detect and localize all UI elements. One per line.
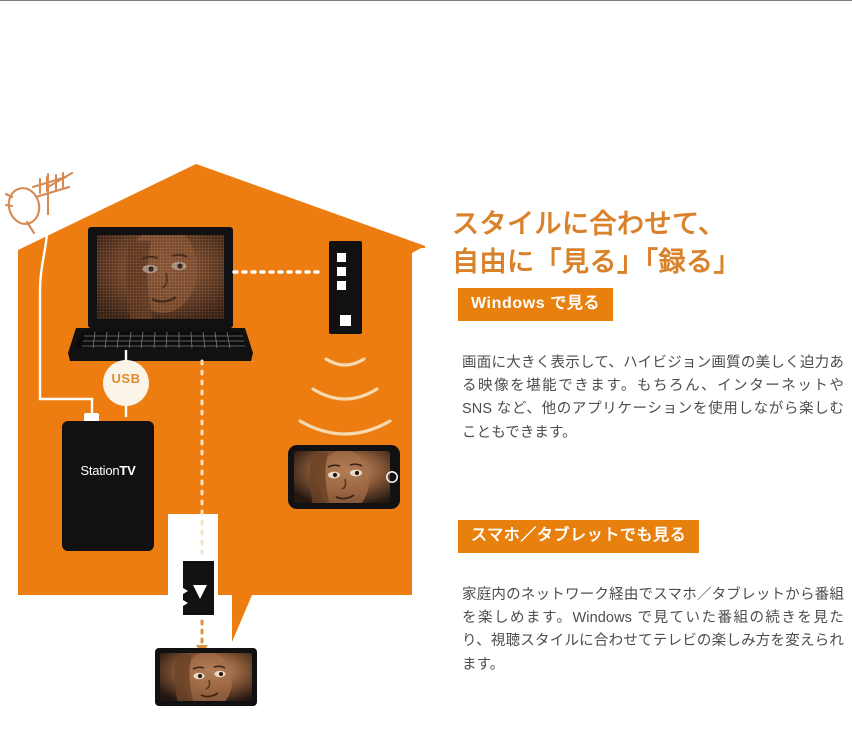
content-panel: スタイルに合わせて、 自由に「見る」「録る」 Windows で見る 画面に大き… (452, 1, 852, 755)
portrait-halftone (97, 225, 224, 321)
satellite-dish-icon (5, 185, 43, 233)
stationtv-tuner (62, 421, 154, 551)
speech-bubble-shape (229, 514, 412, 642)
smartphone-landscape-bottom (155, 648, 257, 710)
section-body-mobile: 家庭内のネットワーク経由でスマホ／タブレットから番組を楽しめます。Windows… (462, 584, 844, 678)
section-badge-mobile: スマホ／タブレットでも見る (458, 520, 699, 553)
page-title-line-1: スタイルに合わせて、 (452, 205, 852, 243)
page-title: スタイルに合わせて、 自由に「見る」「録る」 (452, 205, 852, 282)
page-root: USB StationTV スタイルに合わせて、 自由に「見る」「録る」 Win… (0, 0, 852, 755)
usb-badge-circle (103, 360, 149, 406)
page-title-line-2: 自由に「見る」「録る」 (452, 243, 852, 281)
smartphone-landscape-top (288, 445, 400, 512)
section-badge-windows: Windows で見る (458, 288, 613, 321)
tv-tuner-remote (329, 241, 362, 334)
section-body-windows: 画面に大きく表示して、ハイビジョン画質の美しく迫力ある映像を堪能できます。もちろ… (462, 352, 844, 446)
laptop-device (68, 225, 253, 361)
illustration-panel: USB StationTV (0, 1, 445, 755)
microsd-card-icon (183, 561, 214, 615)
